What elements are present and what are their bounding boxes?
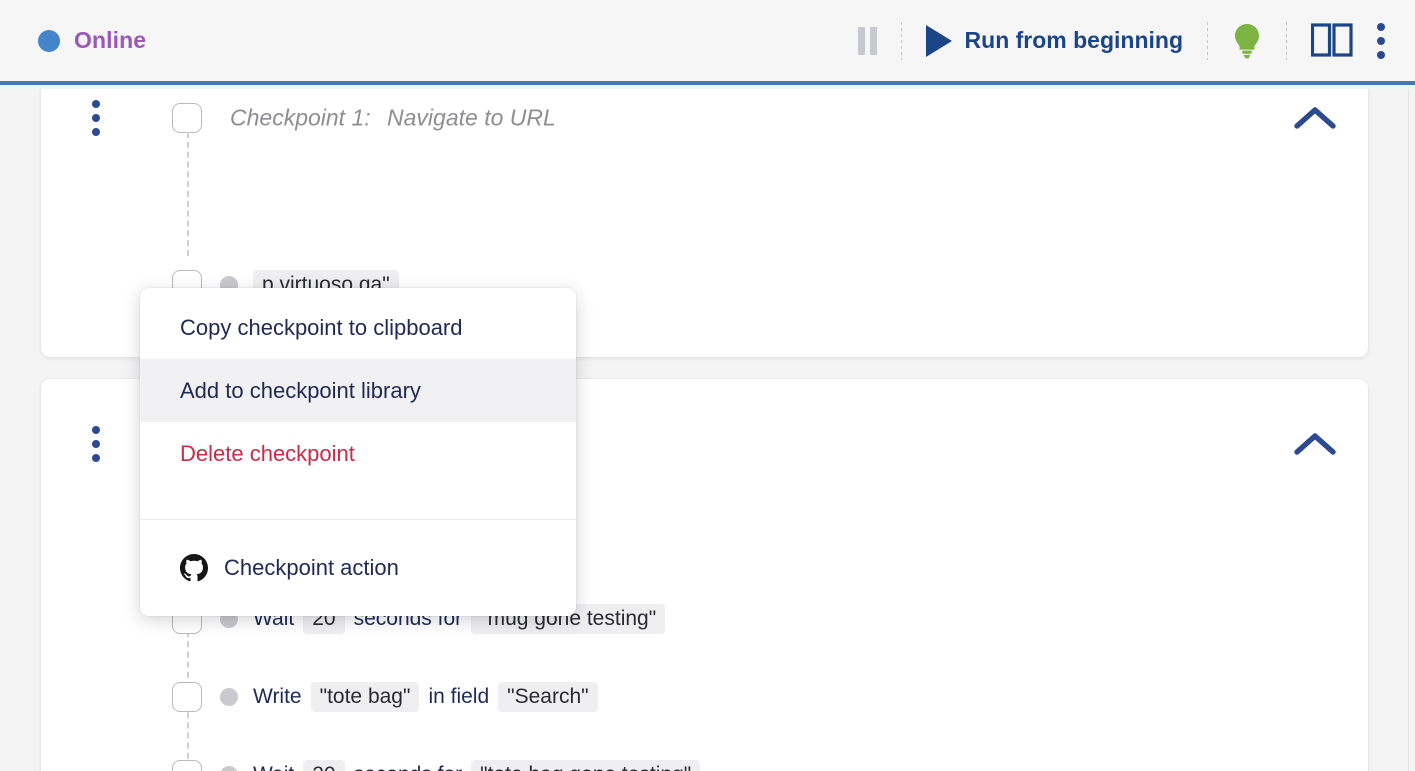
- step-status-dot-icon: [220, 688, 238, 706]
- split-view-button[interactable]: [1301, 17, 1363, 65]
- menu-item-delete-checkpoint[interactable]: Delete checkpoint: [140, 422, 576, 485]
- lightbulb-icon: [1232, 22, 1262, 60]
- step-word: Wait: [253, 763, 294, 771]
- checkpoint-number: Checkpoint 1:: [230, 105, 371, 131]
- menu-item-copy-checkpoint[interactable]: Copy checkpoint to clipboard: [140, 296, 576, 359]
- menu-item-label: Delete checkpoint: [180, 441, 355, 467]
- step-connector: [187, 132, 189, 256]
- top-toolbar: Online Run from beginning: [0, 0, 1415, 85]
- menu-item-label: Copy checkpoint to clipboard: [180, 315, 463, 341]
- step-chip[interactable]: "Search": [498, 682, 597, 712]
- split-view-icon: [1311, 23, 1353, 59]
- more-options-button[interactable]: [1363, 17, 1399, 65]
- menu-item-label: Add to checkpoint library: [180, 378, 421, 404]
- step-word: seconds for: [354, 763, 463, 771]
- collapse-chevron-up-icon[interactable]: [1288, 425, 1342, 463]
- status-label: Online: [74, 27, 146, 54]
- run-from-beginning-label: Run from beginning: [965, 27, 1183, 54]
- step-chip-number[interactable]: 20: [303, 760, 344, 771]
- step-checkbox[interactable]: [172, 682, 202, 712]
- connection-status: Online: [38, 27, 146, 54]
- panel-divider: [1408, 89, 1409, 771]
- checkpoint-checkbox[interactable]: [172, 103, 202, 133]
- step-checkbox[interactable]: [172, 760, 202, 771]
- step-text: Write "tote bag" in field "Search": [253, 682, 607, 712]
- github-icon: [180, 554, 208, 582]
- toolbar-divider: [1207, 22, 1208, 60]
- checkpoint-kebab-icon[interactable]: [89, 423, 103, 465]
- lightbulb-button[interactable]: [1222, 16, 1272, 66]
- status-dot-icon: [38, 30, 60, 52]
- toolbar-actions: Run from beginning: [848, 0, 1415, 81]
- run-from-beginning-button[interactable]: Run from beginning: [916, 19, 1193, 63]
- menu-item-add-to-library[interactable]: Add to checkpoint library: [140, 359, 576, 422]
- app-root: Online Run from beginning: [0, 0, 1415, 771]
- checkpoint-context-menu: Copy checkpoint to clipboard Add to chec…: [140, 288, 576, 616]
- collapse-chevron-up-icon[interactable]: [1288, 99, 1342, 137]
- step-status-dot-icon: [220, 766, 238, 771]
- checkpoint-header: Checkpoint 1: Navigate to URL: [41, 89, 1368, 147]
- toolbar-divider: [901, 22, 902, 60]
- step-word: Write: [253, 685, 302, 709]
- journey-canvas: Checkpoint 1: Navigate to URL p.virtuoso…: [0, 89, 1409, 771]
- play-icon: [926, 25, 952, 57]
- step-chip[interactable]: "tote bag": [311, 682, 420, 712]
- step-text: Wait 20 seconds for "tote bag gone testi…: [253, 760, 709, 771]
- kebab-menu-icon: [1363, 17, 1399, 65]
- toolbar-divider: [1286, 22, 1287, 60]
- checkpoint-title: Checkpoint 1: Navigate to URL: [230, 105, 556, 132]
- checkpoint-name: Navigate to URL: [387, 105, 556, 131]
- checkpoint-kebab-icon[interactable]: [89, 97, 103, 139]
- pause-icon: [858, 27, 877, 55]
- menu-item-label: Checkpoint action: [224, 555, 399, 581]
- step-row: Wait 20 seconds for "tote bag gone testi…: [41, 753, 1368, 771]
- pause-button[interactable]: [848, 21, 887, 61]
- menu-item-checkpoint-action[interactable]: Checkpoint action: [140, 520, 576, 616]
- step-row: Write "tote bag" in field "Search": [41, 675, 1368, 719]
- step-word: in field: [428, 685, 489, 709]
- step-chip[interactable]: "tote bag gone testing": [471, 760, 700, 771]
